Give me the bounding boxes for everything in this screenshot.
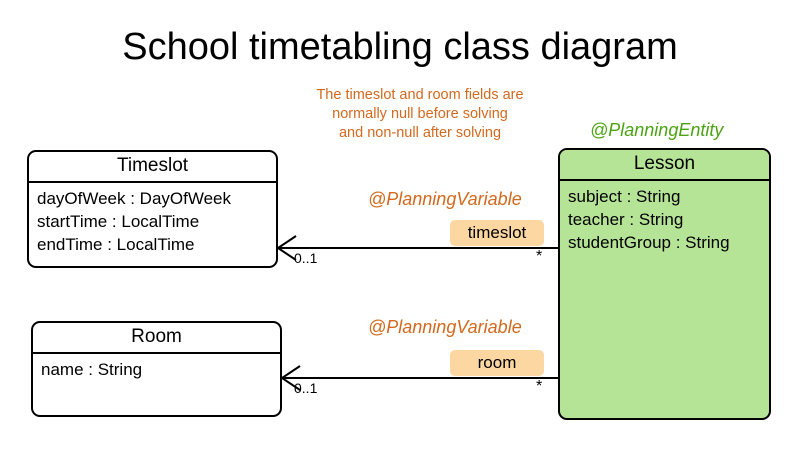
role-label-timeslot[interactable]: timeslot	[450, 220, 544, 246]
stereotype-planning-entity: @PlanningEntity	[590, 120, 723, 141]
solving-note-line-1: The timeslot and room fields are	[275, 86, 565, 105]
solving-note: The timeslot and room fields are normall…	[275, 86, 565, 143]
class-attribute: endTime : LocalTime	[37, 233, 276, 256]
class-attribute: startTime : LocalTime	[37, 210, 276, 233]
solving-note-line-3: and non-null after solving	[275, 124, 565, 143]
page-title: School timetabling class diagram	[0, 26, 800, 69]
class-attributes-room: name : String	[33, 354, 280, 381]
role-label-room[interactable]: room	[450, 350, 544, 376]
class-attributes-lesson: subject : String teacher : String studen…	[560, 181, 769, 254]
stereotype-planning-variable-room: @PlanningVariable	[368, 317, 522, 338]
stereotype-planning-variable-timeslot: @PlanningVariable	[368, 189, 522, 210]
class-attributes-timeslot: dayOfWeek : DayOfWeek startTime : LocalT…	[29, 183, 276, 256]
class-attribute: subject : String	[568, 185, 769, 208]
class-box-room[interactable]: Room name : String	[31, 321, 282, 417]
class-name-lesson: Lesson	[560, 150, 769, 181]
class-attribute: studentGroup : String	[568, 231, 769, 254]
class-attribute: name : String	[41, 358, 280, 381]
multiplicity-room-source: *	[536, 378, 542, 396]
class-name-room: Room	[33, 323, 280, 354]
multiplicity-timeslot-source: *	[536, 248, 542, 266]
class-box-timeslot[interactable]: Timeslot dayOfWeek : DayOfWeek startTime…	[27, 150, 278, 268]
class-attribute: teacher : String	[568, 208, 769, 231]
class-name-timeslot: Timeslot	[29, 152, 276, 183]
solving-note-line-2: normally null before solving	[275, 105, 565, 124]
class-attribute: dayOfWeek : DayOfWeek	[37, 187, 276, 210]
multiplicity-room-target: 0..1	[294, 380, 317, 396]
multiplicity-timeslot-target: 0..1	[294, 250, 317, 266]
class-box-lesson[interactable]: Lesson subject : String teacher : String…	[558, 148, 771, 420]
